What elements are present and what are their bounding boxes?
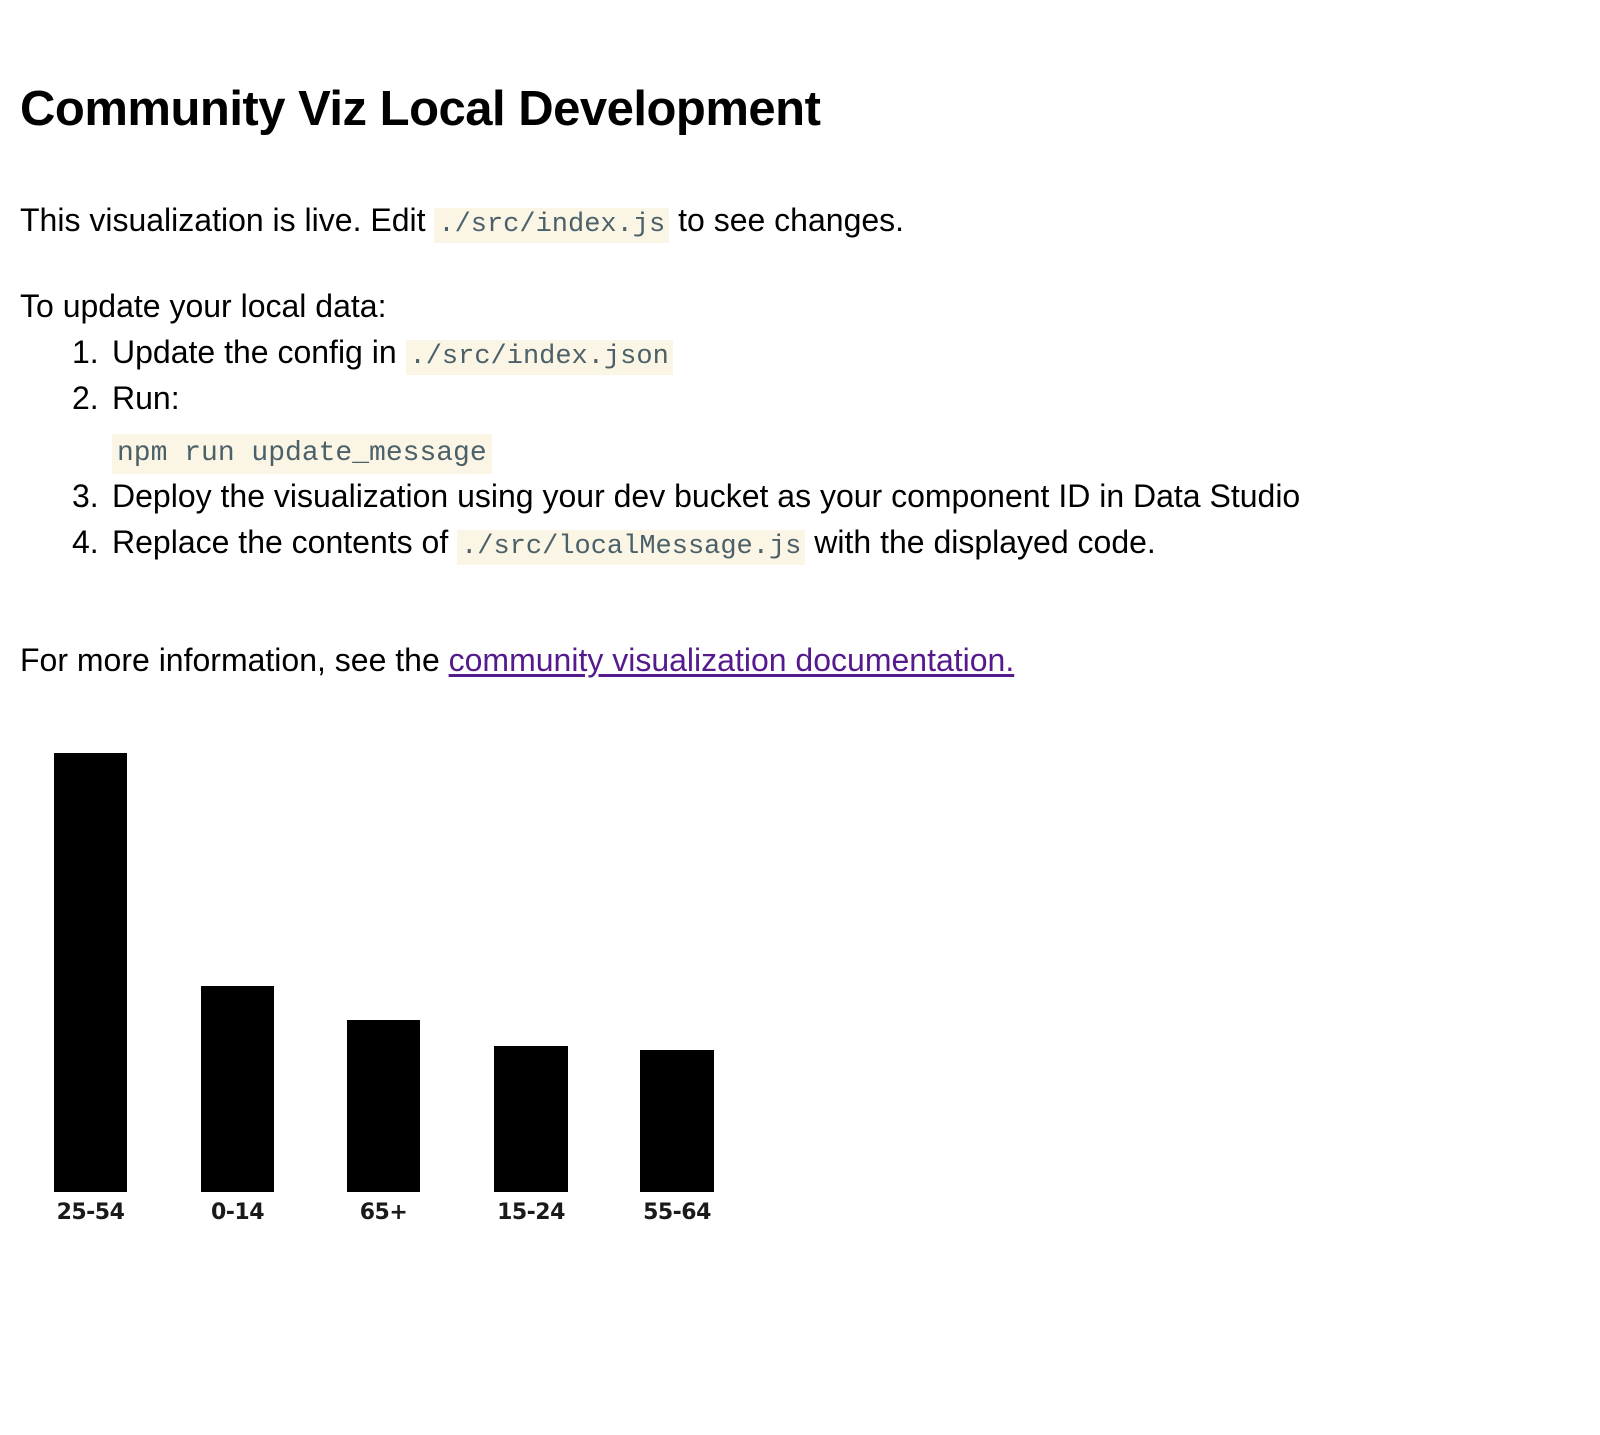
step-marker: 1.: [72, 336, 108, 368]
bar: [201, 986, 274, 1192]
step-text-after: with the displayed code.: [805, 524, 1155, 560]
step-marker: 4.: [72, 526, 108, 558]
command-code-block: npm run update_message: [112, 434, 492, 474]
step-text-before: Deploy the visualization using your dev …: [112, 478, 1300, 514]
bar: [54, 753, 127, 1192]
document-page: Community Viz Local Development This vis…: [0, 0, 1600, 1435]
intro-text-after: to see changes.: [669, 202, 904, 238]
bar-label: 15-24: [494, 1200, 568, 1225]
update-lead-paragraph: To update your local data:: [20, 286, 386, 328]
bar: [347, 1020, 420, 1192]
step-marker: 2.: [72, 382, 108, 414]
inline-code-index-json: ./src/index.json: [406, 340, 673, 375]
inline-code-localmessage-js: ./src/localMessage.js: [457, 530, 805, 565]
bar-label: 55-64: [640, 1200, 714, 1225]
step-text-before: Replace the contents of: [112, 524, 457, 560]
step-marker: 3.: [72, 480, 108, 512]
footer-text-before: For more information, see the: [20, 642, 449, 678]
bar: [494, 1046, 568, 1192]
footer-paragraph: For more information, see the community …: [20, 640, 1014, 682]
bar-label: 65+: [347, 1200, 420, 1225]
bar-label: 0-14: [201, 1200, 274, 1225]
bar-label: 25-54: [54, 1200, 127, 1225]
intro-text-before: This visualization is live. Edit: [20, 202, 434, 238]
list-item: 2.Run:: [20, 382, 1300, 428]
list-item: 1.Update the config in ./src/index.json: [20, 336, 1300, 382]
step-text-before: Run:: [112, 380, 180, 416]
page-title: Community Viz Local Development: [20, 81, 820, 137]
intro-paragraph: This visualization is live. Edit ./src/i…: [20, 200, 904, 243]
community-visualization-documentation-link[interactable]: community visualization documentation.: [449, 642, 1015, 678]
bar-chart: 25-54 0-14 65+ 15-24 55-64: [0, 700, 900, 1260]
list-item: 4.Replace the contents of ./src/localMes…: [20, 526, 1300, 572]
inline-code-index-js: ./src/index.js: [434, 208, 669, 243]
list-item: 3.Deploy the visualization using your de…: [20, 480, 1300, 526]
step-text-before: Update the config in: [112, 334, 406, 370]
bar: [640, 1050, 714, 1192]
